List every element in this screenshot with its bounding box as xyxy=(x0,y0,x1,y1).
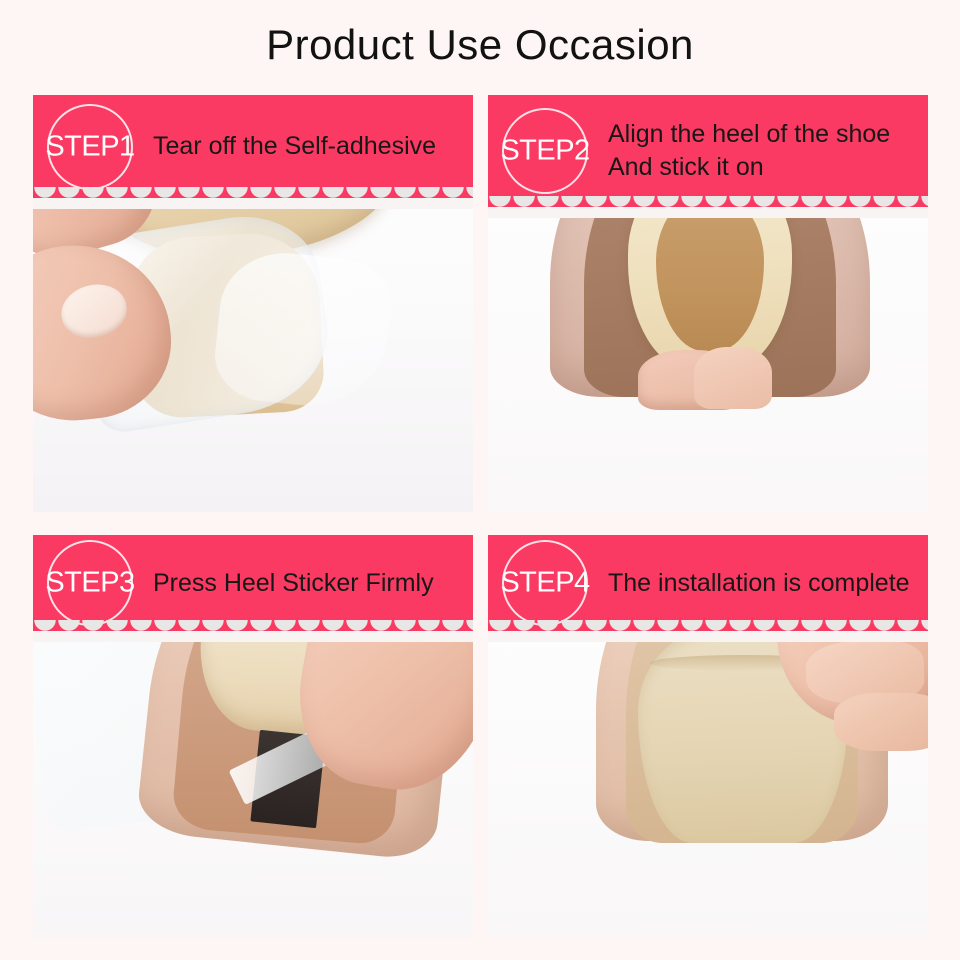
step-1-badge-circle: STEP1 xyxy=(47,104,133,190)
step-4-description: The installation is complete xyxy=(608,567,910,600)
product-use-occasion-infographic: Product Use Occasion xyxy=(0,0,960,960)
step-4-header-band: STEP4 The installation is complete xyxy=(488,535,928,631)
step-2-badge-label: STEP2 xyxy=(500,137,589,166)
step-panel-3: STEP3 Press Heel Sticker Firmly xyxy=(33,535,473,938)
step-panel-2: STEP2 Align the heel of the shoe And sti… xyxy=(488,95,928,512)
step-2-description: Align the heel of the shoe And stick it … xyxy=(608,118,890,184)
step-4-badge-circle: STEP4 xyxy=(502,540,588,626)
step-3-badge-label: STEP3 xyxy=(45,569,134,598)
step-3-description: Press Heel Sticker Firmly xyxy=(153,567,434,600)
step-3-description-line1: Press Heel Sticker Firmly xyxy=(153,569,434,597)
heel-pad-inner xyxy=(656,191,764,351)
page-title: Product Use Occasion xyxy=(0,18,960,72)
step-4-description-line1: The installation is complete xyxy=(608,569,910,597)
step-1-header-band: STEP1 Tear off the Self-adhesive xyxy=(33,95,473,198)
step-1-badge-label: STEP1 xyxy=(45,132,134,161)
finger-3 xyxy=(834,693,928,751)
step-3-badge-circle: STEP3 xyxy=(47,540,133,626)
step-2-description-line1: Align the heel of the shoe xyxy=(608,120,890,148)
step-panel-1: STEP1 Tear off the Self-adhesive xyxy=(33,95,473,512)
steps-grid: STEP1 Tear off the Self-adhesive xyxy=(33,95,928,938)
finger-right xyxy=(694,347,772,409)
step-3-header-band: STEP3 Press Heel Sticker Firmly xyxy=(33,535,473,631)
step-2-header-band: STEP2 Align the heel of the shoe And sti… xyxy=(488,95,928,207)
step-4-badge-label: STEP4 xyxy=(500,569,589,598)
step-1-description: Tear off the Self-adhesive xyxy=(153,130,436,163)
step-2-badge-circle: STEP2 xyxy=(502,108,588,194)
step-panel-4: STEP4 The installation is complete xyxy=(488,535,928,938)
step-1-description-line1: Tear off the Self-adhesive xyxy=(153,132,436,160)
step-2-description-line2: And stick it on xyxy=(608,151,890,184)
